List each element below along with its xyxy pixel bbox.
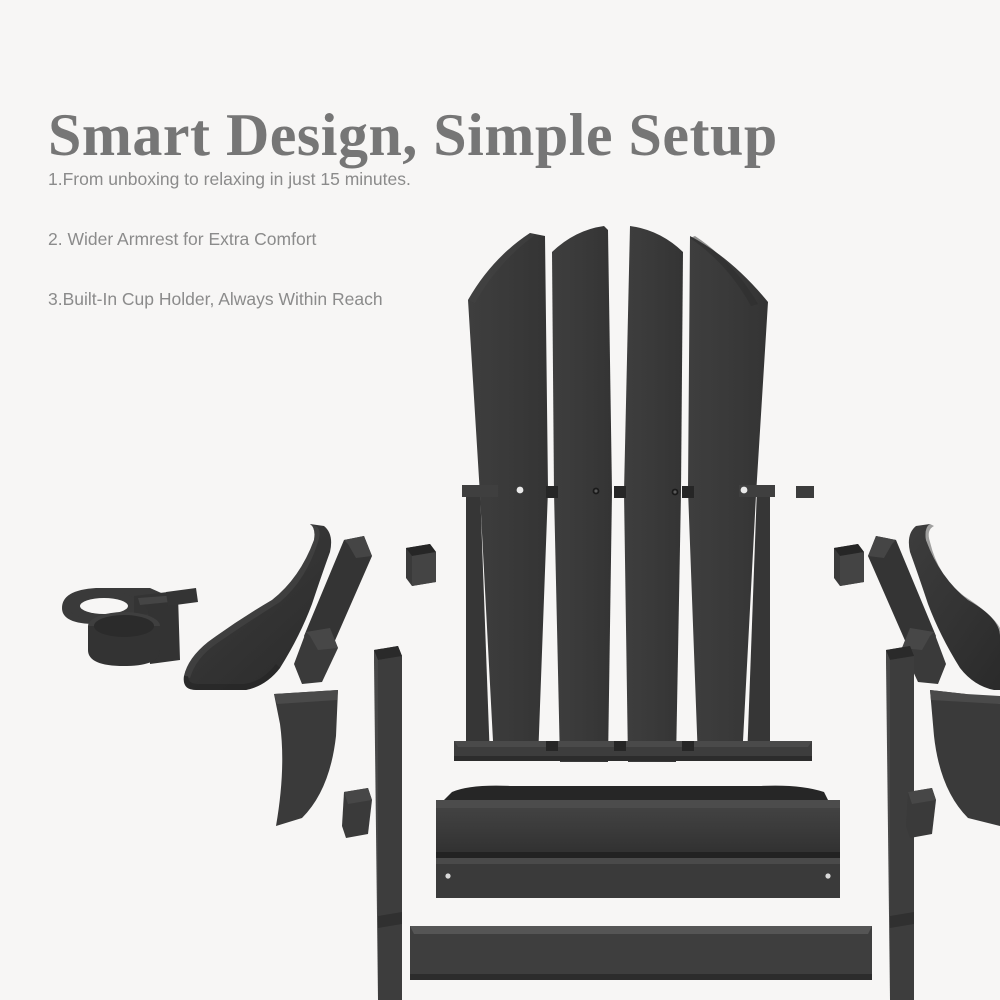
list-item: 3.Built-In Cup Holder, Always Within Rea… <box>48 288 668 310</box>
armrest-bracket-right <box>902 628 946 684</box>
product-feature-graphic: Smart Design, Simple Setup 1.From unboxi… <box>0 0 1000 1000</box>
armrest-support-left <box>304 536 372 666</box>
cup-holder-handle <box>138 595 180 664</box>
back-slat-outer-right <box>688 236 768 760</box>
leg-block-left <box>342 788 372 838</box>
fastener-holes <box>517 487 748 496</box>
armrest-bracket-left <box>294 628 338 684</box>
spacer-block-left <box>406 544 436 586</box>
cup-holder-cup <box>88 612 160 666</box>
bottom-stretcher-board <box>410 926 872 980</box>
cup-holder-ring <box>62 588 168 624</box>
back-side-post-right <box>739 485 775 760</box>
feature-list: 1.From unboxing to relaxing in just 15 m… <box>48 168 668 348</box>
back-lower-cross-rail <box>454 741 812 761</box>
armrest-left <box>184 524 331 690</box>
page-title: Smart Design, Simple Setup <box>48 100 778 170</box>
armrest-support-right <box>868 536 936 666</box>
list-item: 1.From unboxing to relaxing in just 15 m… <box>48 168 668 190</box>
seat-apron-panel <box>436 858 840 898</box>
spacer-block-right <box>834 544 864 586</box>
front-leg-left <box>374 646 402 1000</box>
front-leg-right <box>886 646 914 1000</box>
back-upper-cross-rail <box>546 486 814 498</box>
armrest-right <box>909 524 1000 690</box>
seat-front-panel <box>436 786 840 858</box>
seat-wedge-left <box>274 690 338 826</box>
leg-block-right <box>906 788 936 838</box>
armrest-shim-left <box>166 588 198 606</box>
back-side-post-left <box>462 485 498 760</box>
seat-wedge-right <box>930 690 1000 826</box>
list-item: 2. Wider Armrest for Extra Comfort <box>48 228 668 250</box>
